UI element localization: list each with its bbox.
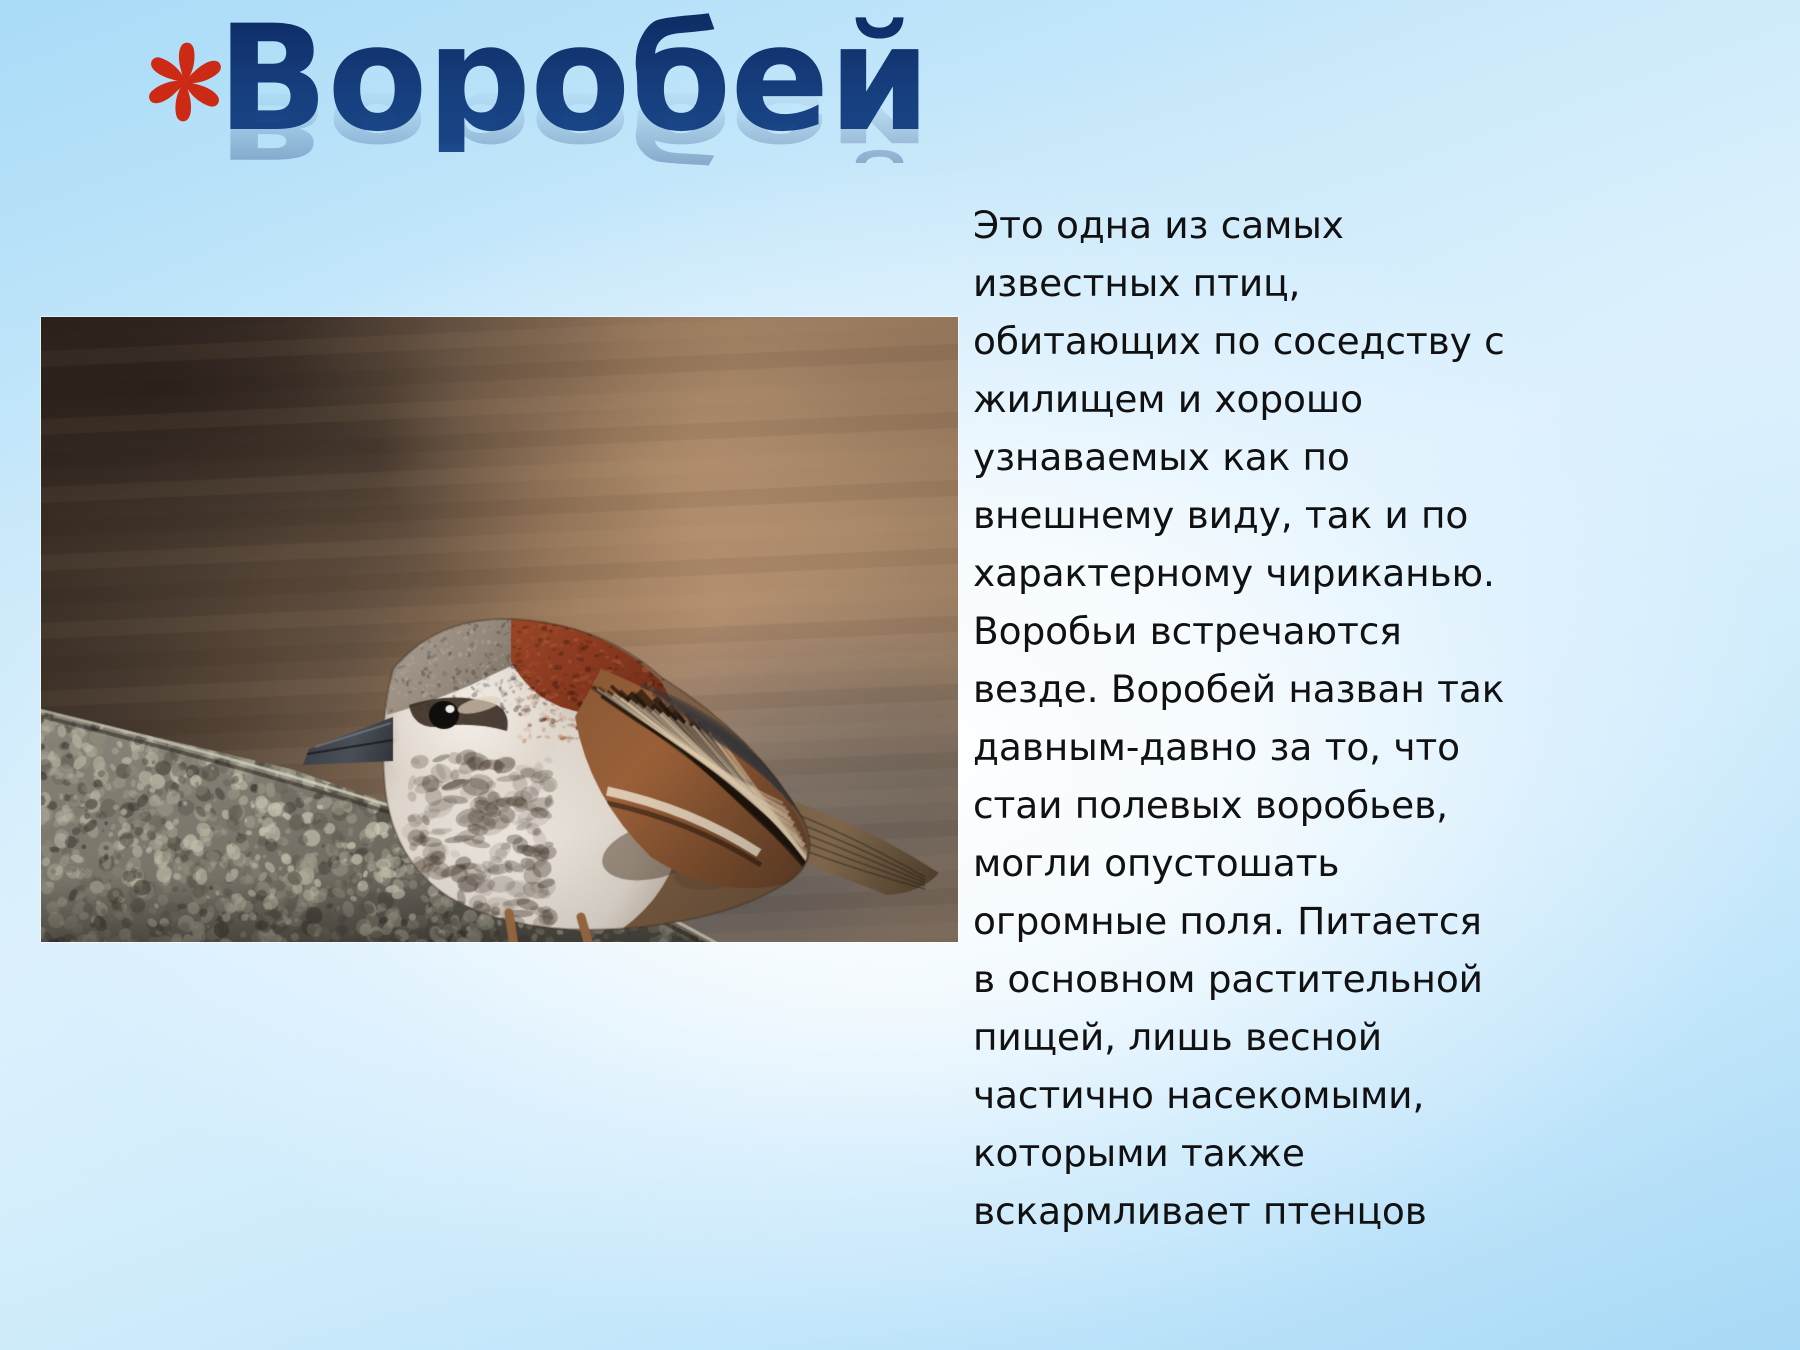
presentation-slide: Воробей Воробей Это одна из самых извест… [0,0,1800,1350]
page-title: Воробей [217,6,930,152]
sparrow-photo-canvas [41,317,958,942]
sparrow-photo [41,317,958,942]
slide-title-block: Воробей Воробей [125,18,965,268]
body-paragraph: Это одна из самых известных птиц, обитаю… [973,196,1513,1240]
